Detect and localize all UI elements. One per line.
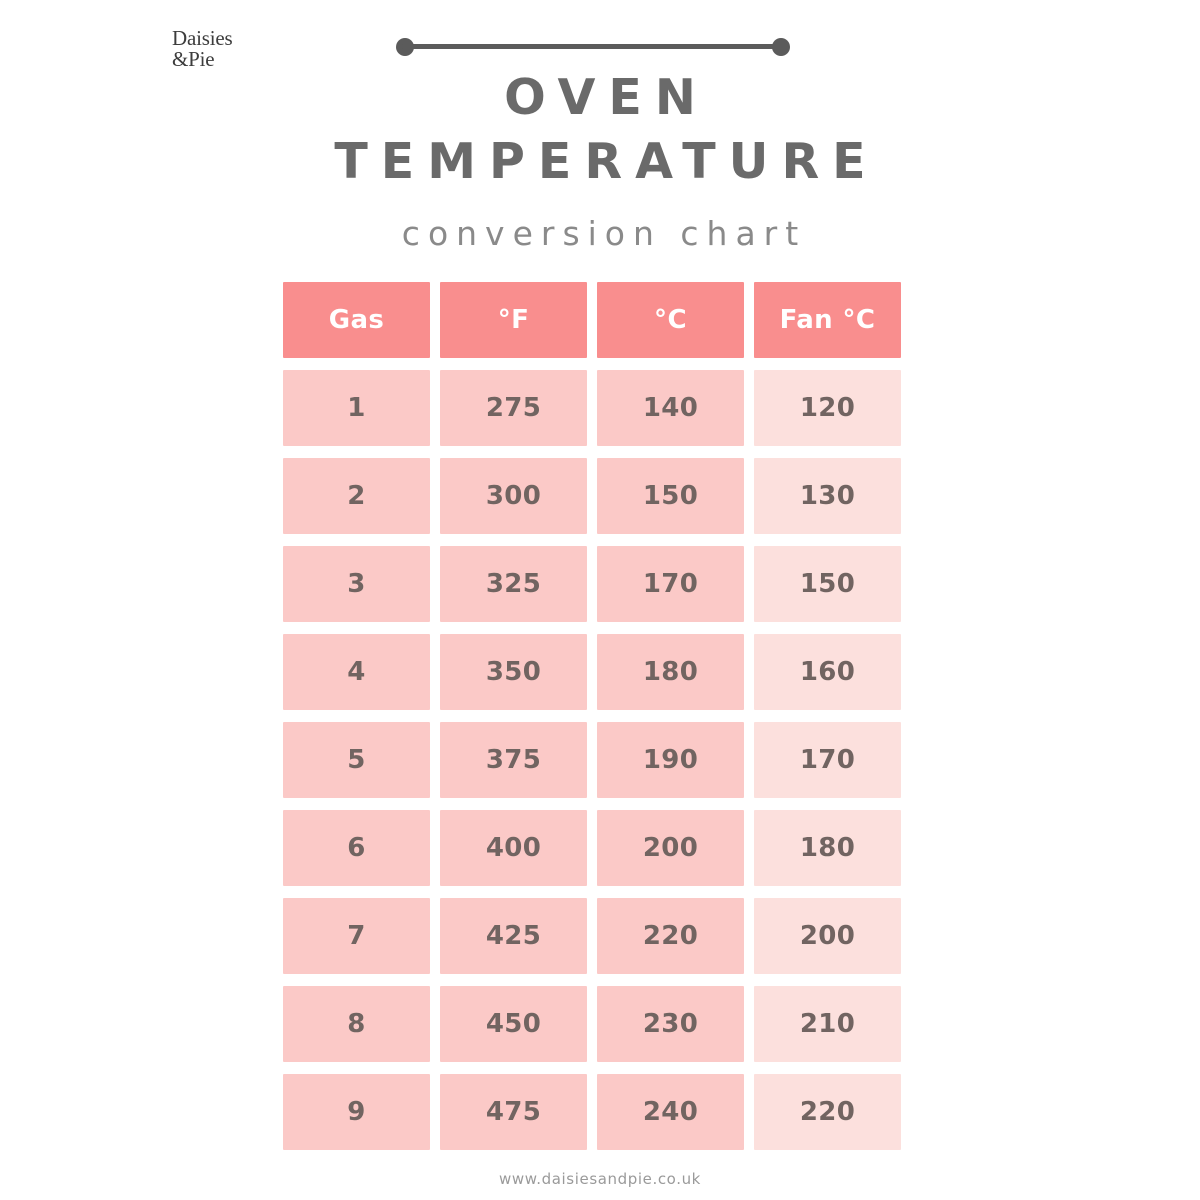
cell-value: 220 [643, 921, 698, 951]
column-header-celsius: °C [597, 282, 744, 358]
cell-value: 3 [347, 569, 365, 599]
cell-value: 325 [486, 569, 541, 599]
cell-gas: 6 [283, 810, 430, 886]
cell-value: 375 [486, 745, 541, 775]
cell-fahrenheit: 425 [440, 898, 587, 974]
cell-gas: 8 [283, 986, 430, 1062]
table-row: 5 375 190 170 [283, 722, 903, 798]
cell-fan-celsius: 160 [754, 634, 901, 710]
cell-value: 180 [643, 657, 698, 687]
oven-temperature-conversion-table: Gas °F °C Fan °C 1 275 140 120 2 300 150… [283, 282, 903, 1162]
table-row: 9 475 240 220 [283, 1074, 903, 1150]
cell-value: 350 [486, 657, 541, 687]
cell-celsius: 230 [597, 986, 744, 1062]
footer-website: www.daisiesandpie.co.uk [0, 1170, 1200, 1188]
cell-celsius: 180 [597, 634, 744, 710]
cell-fahrenheit: 400 [440, 810, 587, 886]
cell-value: 190 [643, 745, 698, 775]
cell-fan-celsius: 220 [754, 1074, 901, 1150]
cell-value: 450 [486, 1009, 541, 1039]
table-row: 6 400 200 180 [283, 810, 903, 886]
cell-value: 300 [486, 481, 541, 511]
column-header-gas: Gas [283, 282, 430, 358]
cell-value: 475 [486, 1097, 541, 1127]
page-title-line-1: OVEN [0, 66, 1200, 130]
cell-gas: 3 [283, 546, 430, 622]
cell-fan-celsius: 130 [754, 458, 901, 534]
cell-value: 150 [800, 569, 855, 599]
cell-fan-celsius: 180 [754, 810, 901, 886]
table-row: 7 425 220 200 [283, 898, 903, 974]
brand-logo-line-1: Daisies [172, 28, 232, 49]
cell-value: 210 [800, 1009, 855, 1039]
cell-value: 400 [486, 833, 541, 863]
cell-value: 170 [643, 569, 698, 599]
cell-gas: 4 [283, 634, 430, 710]
cell-gas: 1 [283, 370, 430, 446]
cell-value: 220 [800, 1097, 855, 1127]
column-header-fahrenheit-label: °F [498, 305, 530, 335]
table-row: 3 325 170 150 [283, 546, 903, 622]
cell-value: 150 [643, 481, 698, 511]
column-header-fan-celsius: Fan °C [754, 282, 901, 358]
cell-gas: 9 [283, 1074, 430, 1150]
cell-celsius: 170 [597, 546, 744, 622]
cell-value: 160 [800, 657, 855, 687]
table-row: 1 275 140 120 [283, 370, 903, 446]
cell-value: 9 [347, 1097, 365, 1127]
divider-line-with-dots [396, 38, 790, 56]
cell-celsius: 190 [597, 722, 744, 798]
cell-gas: 2 [283, 458, 430, 534]
page-title: OVEN TEMPERATURE [0, 66, 1200, 194]
cell-value: 2 [347, 481, 365, 511]
cell-fahrenheit: 375 [440, 722, 587, 798]
cell-celsius: 140 [597, 370, 744, 446]
cell-value: 240 [643, 1097, 698, 1127]
cell-gas: 7 [283, 898, 430, 974]
table-header-row: Gas °F °C Fan °C [283, 282, 903, 358]
column-header-fan-celsius-label: Fan °C [780, 305, 876, 335]
cell-fahrenheit: 350 [440, 634, 587, 710]
cell-value: 200 [643, 833, 698, 863]
cell-fahrenheit: 450 [440, 986, 587, 1062]
brand-logo: Daisies &Pie [172, 28, 232, 71]
cell-fahrenheit: 275 [440, 370, 587, 446]
cell-fahrenheit: 300 [440, 458, 587, 534]
cell-value: 5 [347, 745, 365, 775]
cell-value: 170 [800, 745, 855, 775]
page-title-line-2: TEMPERATURE [0, 130, 1200, 194]
table-row: 4 350 180 160 [283, 634, 903, 710]
cell-fahrenheit: 325 [440, 546, 587, 622]
column-header-celsius-label: °C [654, 305, 687, 335]
cell-fan-celsius: 210 [754, 986, 901, 1062]
cell-fan-celsius: 170 [754, 722, 901, 798]
table-row: 2 300 150 130 [283, 458, 903, 534]
page-subtitle: conversion chart [0, 214, 1200, 253]
divider-bar [402, 44, 784, 49]
cell-value: 6 [347, 833, 365, 863]
cell-celsius: 200 [597, 810, 744, 886]
cell-value: 180 [800, 833, 855, 863]
cell-gas: 5 [283, 722, 430, 798]
cell-fan-celsius: 150 [754, 546, 901, 622]
cell-fan-celsius: 200 [754, 898, 901, 974]
divider-dot-right-icon [772, 38, 790, 56]
column-header-fahrenheit: °F [440, 282, 587, 358]
cell-value: 1 [347, 393, 365, 423]
column-header-gas-label: Gas [329, 305, 385, 335]
cell-fan-celsius: 120 [754, 370, 901, 446]
cell-value: 120 [800, 393, 855, 423]
cell-value: 4 [347, 657, 365, 687]
cell-value: 140 [643, 393, 698, 423]
cell-fahrenheit: 475 [440, 1074, 587, 1150]
cell-value: 8 [347, 1009, 365, 1039]
cell-value: 200 [800, 921, 855, 951]
cell-celsius: 220 [597, 898, 744, 974]
cell-value: 130 [800, 481, 855, 511]
cell-value: 230 [643, 1009, 698, 1039]
cell-value: 7 [347, 921, 365, 951]
cell-value: 275 [486, 393, 541, 423]
cell-value: 425 [486, 921, 541, 951]
table-row: 8 450 230 210 [283, 986, 903, 1062]
cell-celsius: 150 [597, 458, 744, 534]
cell-celsius: 240 [597, 1074, 744, 1150]
